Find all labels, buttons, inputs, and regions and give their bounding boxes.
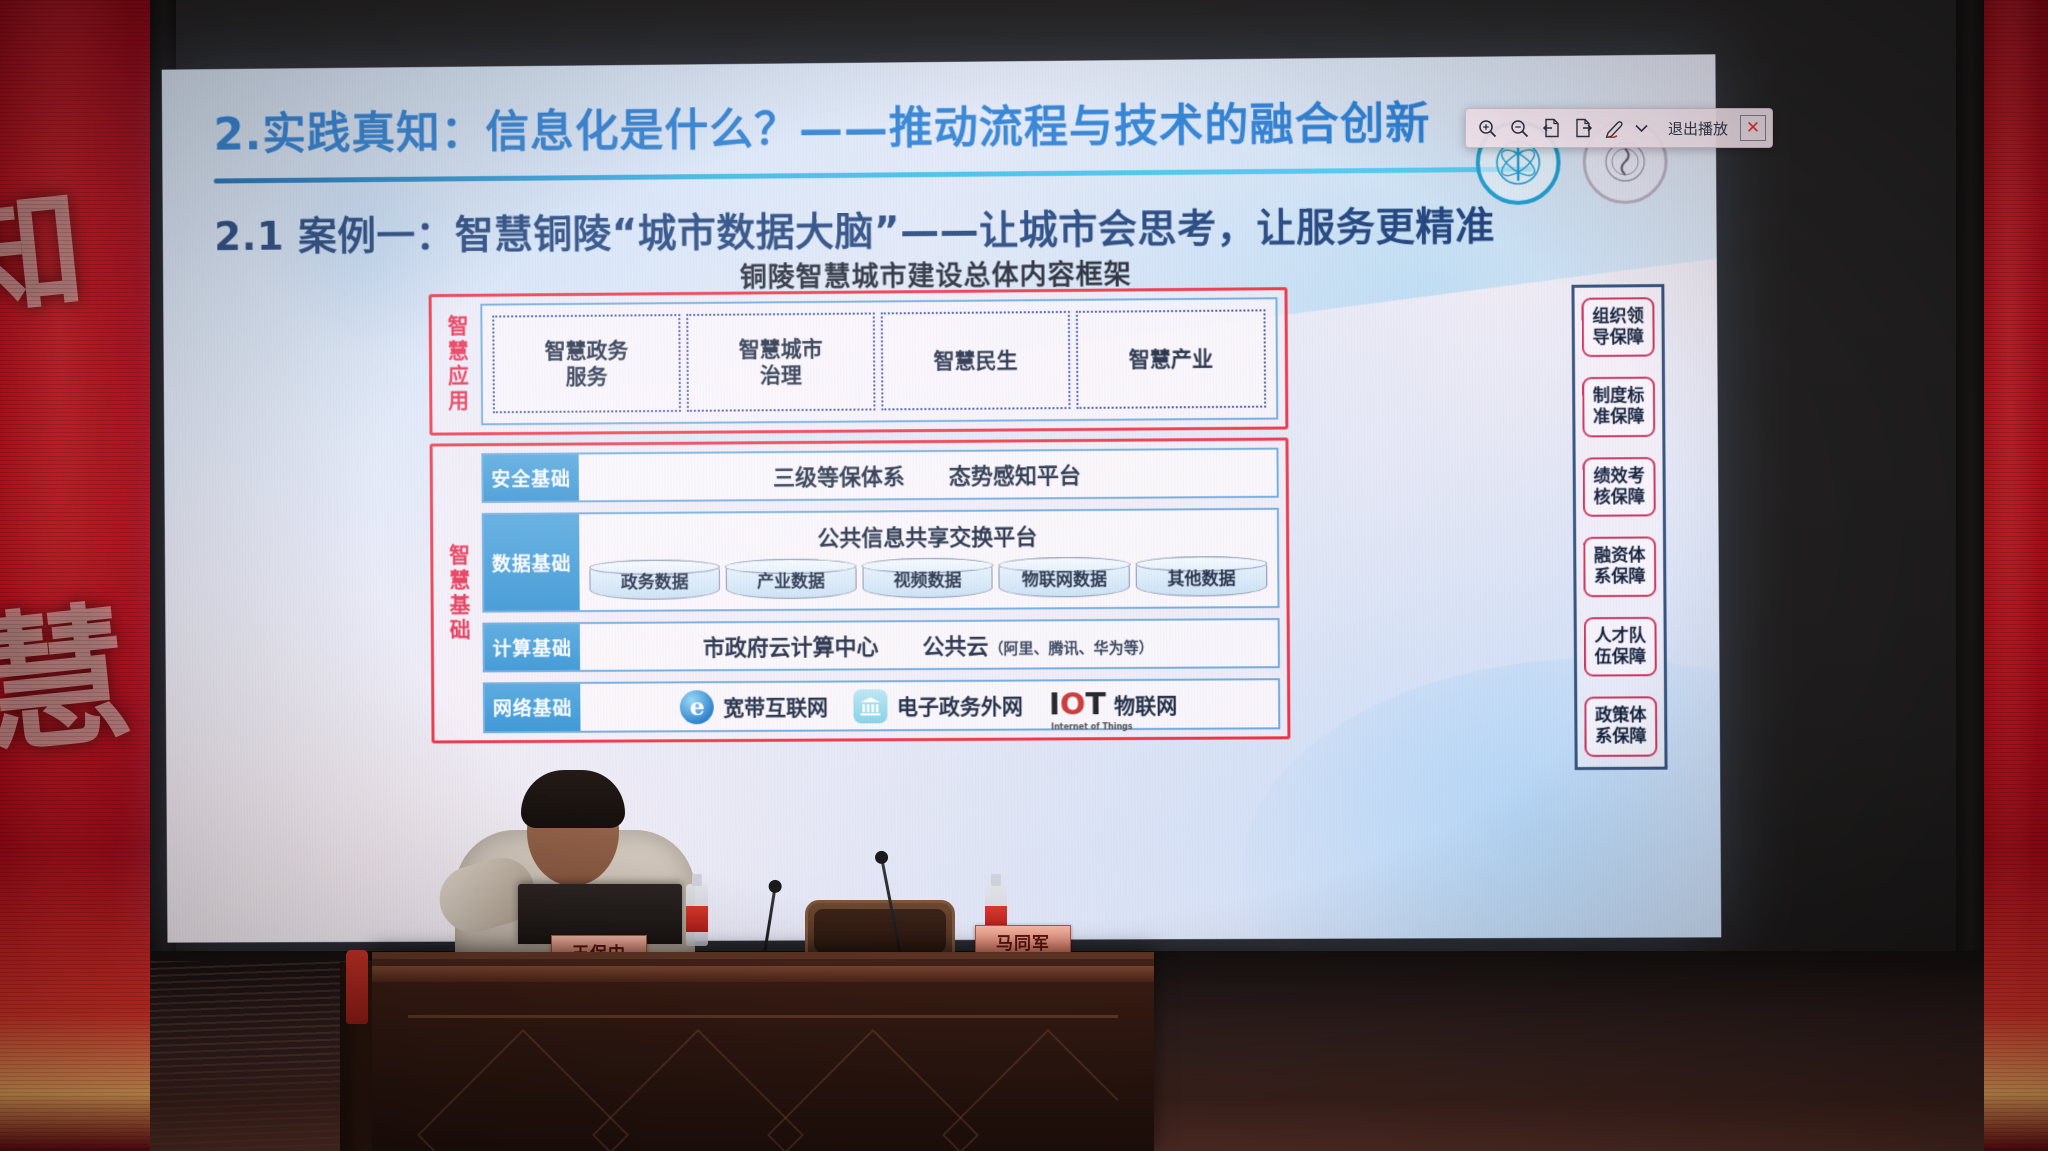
application-layer-label: 智慧应用: [439, 304, 476, 426]
database-cylinder-row: 政务数据 产业数据 视频数据 物联网数据 其他数据: [589, 556, 1267, 600]
application-cells: 智慧政务服务 智慧城市治理 智慧民生 智慧产业: [480, 297, 1278, 425]
foundation-row-data: 数据基础 公共信息共享交换平台 政务数据 产业数据 视频数据 物联网数据 其他数…: [482, 508, 1280, 613]
podium-top-lip: [372, 966, 1154, 982]
database-label-1: 产业数据: [757, 566, 825, 591]
database-label-2: 视频数据: [893, 565, 961, 590]
next-page-icon[interactable]: [1568, 113, 1598, 143]
podium-diamond-3: [942, 1029, 1118, 1151]
foundation-row-compute: 计算基础 市政府云计算中心 公共云（阿里、腾讯、华为等）: [482, 618, 1280, 672]
guarantee-box-4: 人才队伍保障: [1584, 617, 1657, 677]
title-underline-rule: [214, 167, 1532, 184]
guarantee-column: 组织领导保障 制度标准保障 绩效考核保障 融资体系保障 人才队伍保障 政策体系保…: [1571, 284, 1667, 770]
projection-screen: 2.实践真知：信息化是什么？——推动流程与技术的融合创新 2.1 案例一：智慧铜…: [162, 54, 1722, 942]
security-item-0: 三级等保体系: [773, 459, 905, 492]
ie-browser-icon: e: [680, 690, 714, 724]
database-cylinder-0: 政务数据: [589, 559, 719, 600]
network-item-egov: 电子政务外网: [854, 688, 1023, 723]
speaker-hair: [521, 770, 625, 828]
database-cylinder-1: 产业数据: [726, 559, 857, 600]
foundation-layer-label: 智慧基础: [440, 453, 478, 733]
network-label-2: 物联网: [1114, 689, 1177, 719]
iot-logo-subtext: Internet of Things: [1051, 722, 1133, 731]
chair-backrest: [814, 909, 946, 953]
foundation-row-network: 网络基础 e 宽带互联网: [483, 678, 1281, 733]
security-row-tag: 安全基础: [483, 455, 579, 502]
bottle-label-left: [686, 906, 708, 932]
database-cylinder-2: 视频数据: [862, 558, 993, 599]
guarantee-box-3: 融资体系保障: [1583, 537, 1656, 597]
data-platform-headline: 公共信息共享交换平台: [817, 519, 1037, 552]
security-row-body: 三级等保体系 态势感知平台: [579, 450, 1277, 501]
exit-playback-label[interactable]: 退出播放: [1668, 118, 1728, 139]
iot-logo-icon: IOT Internet of Things: [1049, 687, 1105, 722]
close-icon[interactable]: ✕: [1740, 115, 1766, 141]
network-item-broadband: e 宽带互联网: [680, 689, 828, 724]
chevron-down-icon[interactable]: [1632, 113, 1650, 143]
compute-item-0: 市政府云计算中心: [703, 629, 879, 662]
data-row-tag: 数据基础: [484, 514, 580, 610]
application-cell-1: 智慧城市治理: [686, 312, 875, 411]
network-label-1: 电子政务外网: [897, 690, 1023, 721]
database-label-3: 物联网数据: [1022, 564, 1107, 590]
security-item-1: 态势感知平台: [949, 458, 1081, 491]
slide-content: 2.实践真知：信息化是什么？——推动流程与技术的融合创新 2.1 案例一：智慧铜…: [162, 54, 1722, 942]
pen-icon[interactable]: [1600, 113, 1630, 143]
previous-page-icon[interactable]: [1536, 113, 1566, 143]
network-label-0: 宽带互联网: [723, 691, 828, 722]
led-backdrop-left: 知 慧: [0, 0, 150, 1151]
fire-extinguisher: [346, 950, 368, 1024]
network-row-body: e 宽带互联网: [580, 680, 1278, 731]
compute-item-1-group: 公共云（阿里、腾讯、华为等）: [922, 628, 1154, 661]
government-building-icon: [854, 689, 888, 723]
application-cell-2: 智慧民生: [881, 311, 1071, 410]
network-row-tag: 网络基础: [485, 684, 581, 731]
zoom-in-icon[interactable]: [1472, 113, 1502, 143]
wooden-podium: [372, 952, 1154, 1151]
water-bottle-left: [686, 884, 708, 946]
compute-row-tag: 计算基础: [484, 624, 580, 670]
calligraphy-glyph-1: 知: [0, 144, 91, 345]
guarantee-box-1: 制度标准保障: [1582, 377, 1655, 437]
compute-row-body: 市政府云计算中心 公共云（阿里、腾讯、华为等）: [580, 620, 1278, 670]
slide-title-row: 2.实践真知：信息化是什么？——推动流程与技术的融合创新: [213, 98, 1613, 160]
zoom-out-icon[interactable]: [1504, 113, 1534, 143]
guarantee-box-2: 绩效考核保障: [1583, 457, 1656, 517]
application-cell-0: 智慧政务服务: [492, 314, 681, 413]
calligraphy-glyph-2: 慧: [0, 553, 139, 784]
compute-item-1: 公共云: [922, 635, 988, 660]
framework-diagram: 智慧应用 智慧政务服务 智慧城市治理 智慧民生 智慧产业 智慧基础 安全基础: [429, 287, 1291, 751]
network-item-iot: IOT Internet of Things 物联网: [1049, 687, 1178, 723]
application-layer-box: 智慧应用 智慧政务服务 智慧城市治理 智慧民生 智慧产业: [429, 287, 1289, 435]
conference-stage-scene: 知 慧 2.实践真知：信息化是什么？——推动流程与技术的融合创新 2.1 案例一…: [0, 0, 2048, 1151]
guarantee-box-5: 政策体系保障: [1584, 697, 1657, 757]
guarantee-box-0: 组织领导保障: [1582, 297, 1655, 357]
foundation-row-security: 安全基础 三级等保体系 态势感知平台: [481, 448, 1278, 503]
database-cylinder-4: 其他数据: [1136, 556, 1268, 597]
foundation-layer-box: 智慧基础 安全基础 三级等保体系 态势感知平台 数据基础: [430, 438, 1291, 744]
led-backdrop-right: [1984, 0, 2048, 1151]
application-cell-3: 智慧产业: [1076, 309, 1266, 409]
page-title: 2.实践真知：信息化是什么？——推动流程与技术的融合创新: [213, 98, 1613, 160]
foundation-rows: 安全基础 三级等保体系 态势感知平台 数据基础 公共信息共享交换平台: [481, 448, 1280, 734]
podium-front-panel: [408, 1015, 1118, 1151]
presentation-playback-toolbar[interactable]: 退出播放 ✕: [1465, 108, 1773, 148]
led-scanline-overlay-right: [1984, 0, 2048, 1151]
database-label-0: 政务数据: [621, 567, 689, 592]
database-label-4: 其他数据: [1167, 564, 1235, 589]
compute-note: （阿里、腾讯、华为等）: [988, 639, 1153, 658]
database-cylinder-3: 物联网数据: [999, 557, 1130, 598]
data-row-body: 公共信息共享交换平台 政务数据 产业数据 视频数据 物联网数据 其他数据: [579, 510, 1277, 610]
